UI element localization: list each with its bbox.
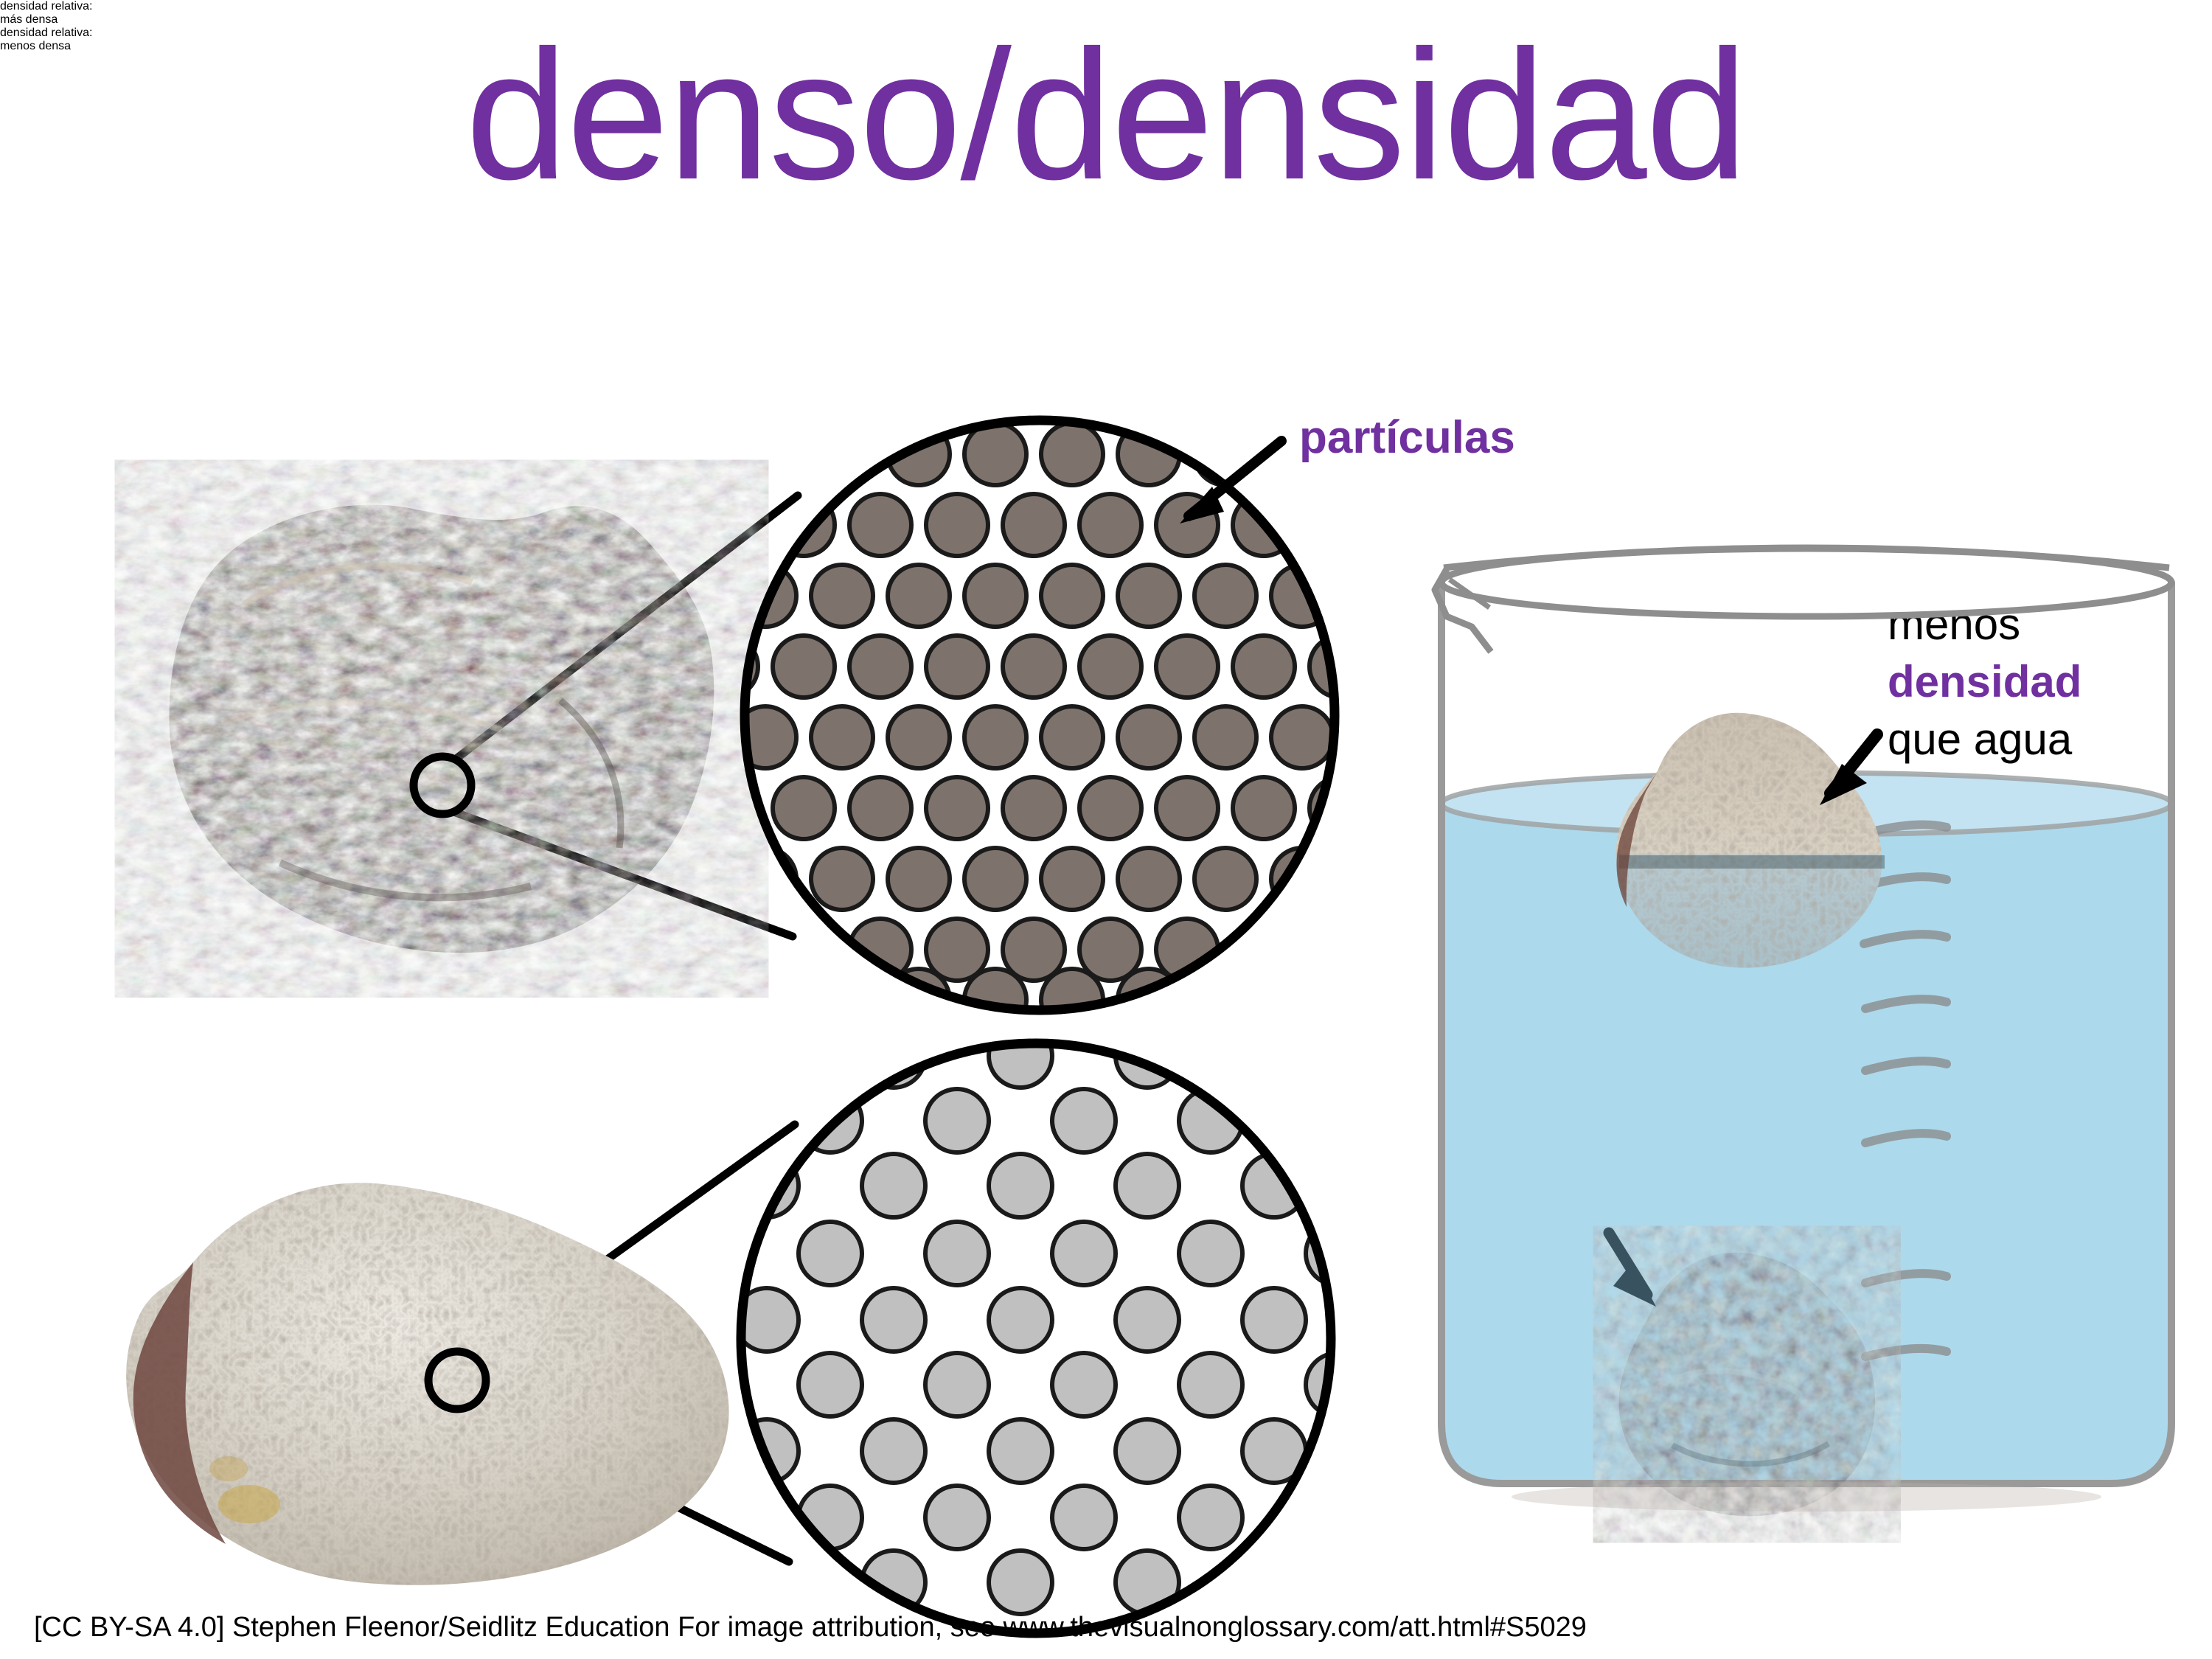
beaker-shadow	[1512, 1482, 2101, 1512]
beaker-rim-back	[1444, 548, 2169, 568]
attribution-footer: [CC BY-SA 4.0] Stephen Fleenor/Seidlitz …	[34, 1612, 1587, 1644]
illustration-layer	[0, 0, 2212, 1659]
magnifier-dense-particles	[658, 413, 1410, 1031]
slide-canvas: denso/densidad densidad relativa: más de…	[0, 0, 2212, 1659]
beaker	[1430, 548, 2183, 1516]
floating-rock	[1616, 713, 1885, 968]
dense-rock-image	[170, 505, 714, 953]
